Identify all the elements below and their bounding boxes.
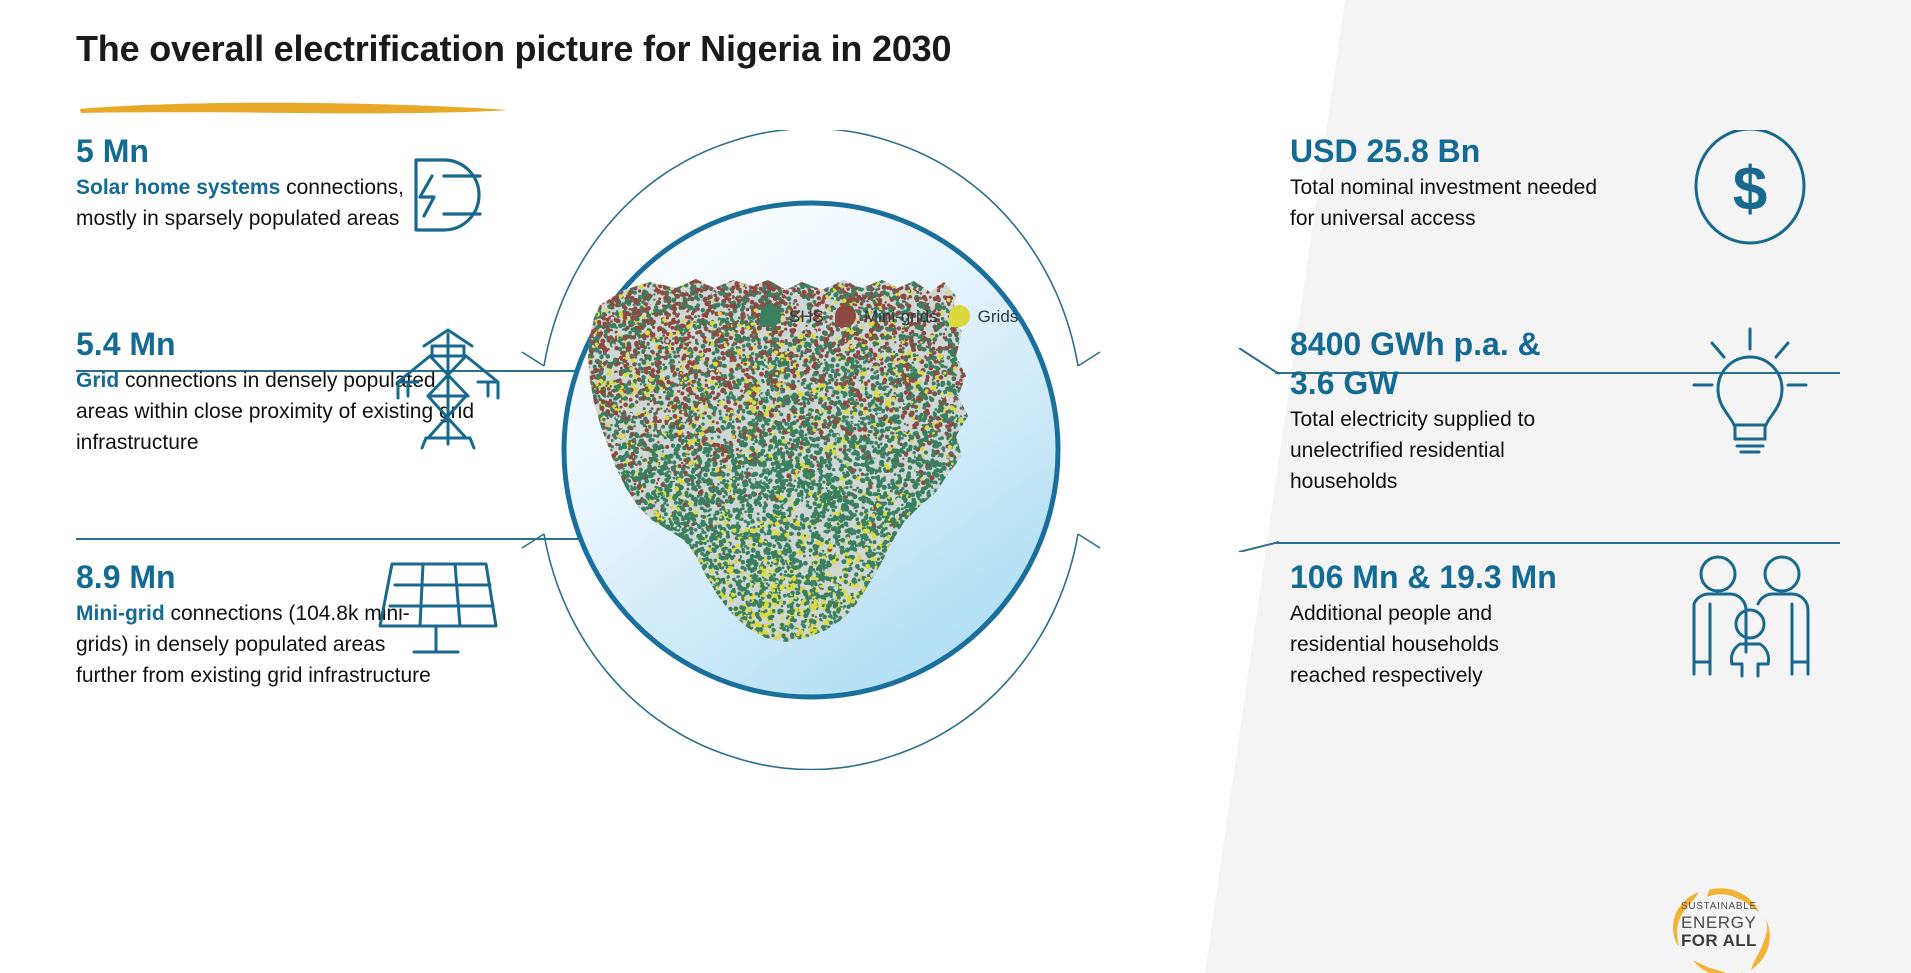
legend-swatch-shs <box>760 305 781 327</box>
legend-label: Grids <box>978 308 1019 325</box>
legend-item-mini-grids: Mini-grids <box>835 305 938 327</box>
logo-line-3: FOR ALL <box>1681 932 1785 949</box>
stat-value: USD 25.8 Bn <box>1290 132 1620 171</box>
stat-electricity-supplied: 8400 GWh p.a. & 3.6 GW Total electricity… <box>1290 325 1590 498</box>
title-underline <box>76 96 516 118</box>
family-icon <box>1680 552 1820 687</box>
seforall-logo: SUSTAINABLE ENERGY FOR ALL <box>1655 888 1815 973</box>
map-circle-graphic <box>500 130 1120 770</box>
stat-description: Total nominal investment needed for univ… <box>1290 173 1620 235</box>
dollar-circle-icon: $ <box>1690 130 1810 265</box>
legend-item-grids: Grids <box>949 305 1019 327</box>
stat-lead: Solar home systems <box>76 176 280 199</box>
map-legend: SHS Mini-grids Grids <box>760 305 1018 327</box>
solar-panel-icon <box>370 552 500 667</box>
lightbulb-icon <box>1690 325 1810 460</box>
stat-total-investment: USD 25.8 Bn Total nominal investment nee… <box>1290 132 1620 235</box>
stat-value: 106 Mn & 19.3 Mn <box>1290 558 1560 597</box>
logo-text: SUSTAINABLE ENERGY FOR ALL <box>1681 902 1785 949</box>
right-connector-1 <box>1233 348 1279 378</box>
stat-description: Additional people and residential househ… <box>1290 599 1560 692</box>
stat-value: 8400 GWh p.a. & 3.6 GW <box>1290 325 1590 403</box>
legend-label: SHS <box>789 308 824 325</box>
logo-line-2: ENERGY <box>1681 914 1785 931</box>
legend-swatch-grids <box>949 305 970 327</box>
right-connector-2 <box>1233 518 1279 552</box>
right-divider-2 <box>1275 542 1840 544</box>
stat-lead: Mini-grid <box>76 602 165 625</box>
plug-icon <box>370 150 500 245</box>
stat-description: Total electricity supplied to unelectrif… <box>1290 405 1590 498</box>
infographic-canvas: The overall electrification picture for … <box>0 0 1911 973</box>
stat-people-households-reached: 106 Mn & 19.3 Mn Additional people and r… <box>1290 558 1560 692</box>
transmission-tower-icon <box>388 320 508 455</box>
legend-swatch-mini-grids <box>835 305 856 327</box>
stat-lead: Grid <box>76 369 119 392</box>
page-title: The overall electrification picture for … <box>76 28 951 70</box>
logo-line-1: SUSTAINABLE <box>1681 902 1785 912</box>
legend-label: Mini-grids <box>864 308 938 325</box>
legend-item-shs: SHS <box>760 305 824 327</box>
